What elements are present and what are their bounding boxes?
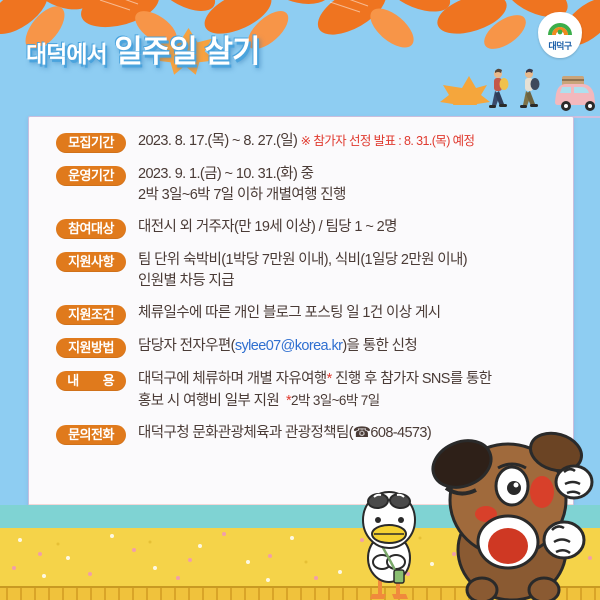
title-main: 대덕에서	[26, 41, 107, 67]
row-value: 담당자 전자우편(sylee07@korea.kr)을 통한 신청	[138, 336, 417, 357]
row-value: 팀 단위 숙박비(1박당 7만원 이내), 식비(1일당 2만원 이내) 인원별…	[138, 250, 467, 292]
row-label-support-details: 지원사항	[56, 252, 126, 272]
logo-label: 대덕구	[538, 39, 582, 52]
row-value: 대덕구청 문화관광체육과 관광정책팀(☎608-4573)	[138, 423, 431, 444]
table-row: 운영기간 2023. 9. 1.(금) ~ 10. 31.(화) 중 2박 3일…	[29, 164, 573, 206]
dog-mascot	[424, 430, 600, 600]
row-text: 홍보 시 여행비 일부 지원	[138, 393, 279, 409]
page-title: 대덕에서 일주일 살기	[26, 28, 356, 76]
row-label-support-condition: 지원조건	[56, 305, 126, 325]
row-line-2: 홍보 시 여행비 일부 지원 *2박 3일~6박 7일	[138, 390, 492, 412]
row-value: 대덕구에 체류하며 개별 자유여행* 진행 후 참가자 SNS를 통한 홍보 시…	[138, 369, 492, 412]
row-label-application-method: 지원방법	[56, 338, 126, 358]
row-value: 2023. 8. 17.(목) ~ 8. 27.(일) ※ 참가자 선정 발표 …	[138, 131, 474, 152]
rainbow-arch-icon	[547, 20, 573, 35]
row-text: 인원별 차등 지급	[138, 271, 467, 292]
row-label-eligibility: 참여대상	[56, 219, 126, 239]
row-text-after: 진행 후 참가자 SNS를 통한	[332, 371, 492, 387]
table-row: 지원조건 체류일수에 따른 개인 블로그 포스팅 일 1건 이상 게시	[29, 303, 573, 325]
info-rows: 모집기간 2023. 8. 17.(목) ~ 8. 27.(일) ※ 참가자 선…	[29, 131, 573, 456]
row-value: 대전시 외 거주자(만 19세 이상) / 팀당 1 ~ 2명	[138, 217, 397, 238]
backpacker-walking-1	[489, 69, 509, 108]
table-row: 지원방법 담당자 전자우편(sylee07@korea.kr)을 통한 신청	[29, 336, 573, 358]
table-row: 참여대상 대전시 외 거주자(만 19세 이상) / 팀당 1 ~ 2명	[29, 217, 573, 239]
row-text: 대전시 외 거주자(만 19세 이상) / 팀당 1 ~ 2명	[138, 219, 397, 235]
walkers-car-svg	[482, 62, 600, 120]
row-label-content: 내 용	[56, 371, 126, 391]
row-label-contact-phone: 문의전화	[56, 425, 126, 445]
travelers-illustration	[482, 62, 600, 120]
title-sub: 일주일 살기	[114, 34, 259, 69]
row-note: ※ 참가자 선정 발표 : 8. 31.(목) 예정	[301, 134, 475, 148]
row-text: 2023. 9. 1.(금) ~ 10. 31.(화) 중	[138, 164, 346, 185]
row-label-operation-period: 운영기간	[56, 166, 126, 186]
row-value: 2023. 9. 1.(금) ~ 10. 31.(화) 중 2박 3일~6박 7…	[138, 164, 346, 206]
row-text-after: )을 통한 신청	[342, 338, 417, 354]
row-text: 대덕구청 문화관광체육과 관광정책팀(☎608-4573)	[138, 425, 431, 441]
pink-car-with-luggage	[555, 76, 595, 111]
row-line-1: 대덕구에 체류하며 개별 자유여행* 진행 후 참가자 SNS를 통한	[138, 369, 492, 390]
daedeok-gu-logo: 대덕구	[538, 12, 582, 58]
table-row: 지원사항 팀 단위 숙박비(1박당 7만원 이내), 식비(1일당 2만원 이내…	[29, 250, 573, 292]
duck-mascot-with-sunglasses	[352, 486, 428, 600]
email-link[interactable]: sylee07@korea.kr	[235, 338, 342, 354]
table-row: 모집기간 2023. 8. 17.(목) ~ 8. 27.(일) ※ 참가자 선…	[29, 131, 573, 153]
backpacker-walking-2	[520, 69, 540, 108]
poster: 대덕에서 일주일 살기 대덕구	[0, 0, 600, 600]
row-label-recruitment-period: 모집기간	[56, 133, 126, 153]
dog-svg	[424, 430, 600, 600]
row-text: 체류일수에 따른 개인 블로그 포스팅 일 1건 이상 게시	[138, 305, 440, 321]
duck-svg	[352, 486, 428, 600]
row-value: 체류일수에 따른 개인 블로그 포스팅 일 1건 이상 게시	[138, 303, 440, 324]
row-text: 대덕구에 체류하며 개별 자유여행	[138, 371, 327, 387]
row-text-before: 담당자 전자우편(	[138, 338, 235, 354]
row-text: 2023. 8. 17.(목) ~ 8. 27.(일)	[138, 133, 297, 149]
row-text-after: 2박 3일~6박 7일	[291, 393, 380, 408]
row-text: 2박 3일~6박 7일 이하 개별여행 진행	[138, 185, 346, 206]
table-row: 내 용 대덕구에 체류하며 개별 자유여행* 진행 후 참가자 SNS를 통한 …	[29, 369, 573, 412]
row-text: 팀 단위 숙박비(1박당 7만원 이내), 식비(1일당 2만원 이내)	[138, 250, 467, 271]
